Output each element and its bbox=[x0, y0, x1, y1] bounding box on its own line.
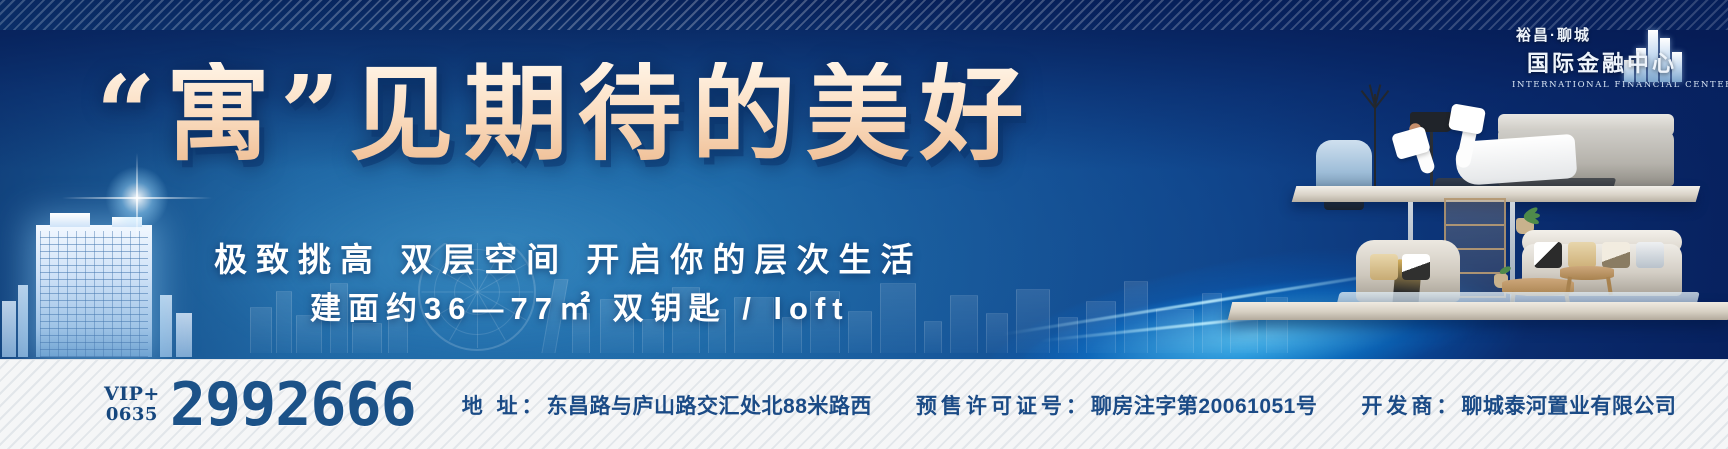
duplex-interior-illustration bbox=[1198, 78, 1728, 358]
skyline-tower-small bbox=[18, 285, 28, 357]
property-ad-banner: “寓”见期待的美好 极致挑高 双层空间 开启你的层次生活 建面约36—77㎡ 双… bbox=[0, 0, 1728, 449]
area-unit-text: ㎡ bbox=[559, 291, 597, 326]
cushion-icon bbox=[1602, 242, 1630, 268]
skyline-tower-small bbox=[2, 301, 16, 357]
cushion-icon bbox=[1636, 242, 1664, 268]
cushion-icon bbox=[1402, 254, 1430, 280]
cushion-icon bbox=[1568, 242, 1596, 268]
hotline-block[interactable]: VIP+ 0635 2992666 bbox=[104, 375, 416, 435]
subtitle-features: 极致挑高 双层空间 开启你的层次生活 bbox=[214, 233, 922, 281]
skyline-tower-small bbox=[176, 313, 192, 357]
vip-prefix-label: VIP+ 0635 bbox=[104, 384, 160, 425]
address-value: 东昌路与庐山路交汇处北88米路西 bbox=[547, 390, 872, 420]
developer-value: 聊城泰河置业有限公司 bbox=[1461, 390, 1676, 420]
cushion-icon bbox=[1370, 254, 1398, 280]
page-title: “寓”见期待的美好 bbox=[96, 62, 1034, 166]
hotline-number[interactable]: 2992666 bbox=[170, 375, 416, 435]
footer-details: 地 址： 东昌路与庐山路交汇处北88米路西 预售许可证号： 聊房注字第20061… bbox=[462, 390, 1677, 420]
logo-line-project: 国际金融中心 bbox=[1512, 46, 1692, 78]
developer-item: 开发商： 聊城泰河置业有限公司 bbox=[1361, 390, 1676, 420]
footer-info-bar: VIP+ 0635 2992666 地 址： 东昌路与庐山路交汇处北88米路西 … bbox=[0, 359, 1728, 449]
vip-plus-text: VIP+ bbox=[104, 384, 160, 405]
permit-label: 预售许可证号： bbox=[916, 390, 1091, 420]
logo-line-developer: 裕昌·聊城 bbox=[1512, 24, 1692, 45]
address-item: 地 址： 东昌路与庐山路交汇处北88米路西 bbox=[462, 390, 872, 420]
developer-label: 开发商： bbox=[1361, 390, 1461, 420]
loft-type-text: 双钥匙 / loft bbox=[613, 291, 850, 326]
address-label: 地 址： bbox=[462, 390, 547, 420]
hero-tower-building-icon bbox=[36, 225, 152, 357]
skyline-tower-small bbox=[160, 295, 172, 357]
area-code-text: 0635 bbox=[104, 405, 160, 425]
pillow-icon bbox=[1448, 103, 1486, 135]
subtitle-area-spec: 建面约36—77㎡ 双钥匙 / loft bbox=[310, 283, 850, 328]
permit-item: 预售许可证号： 聊房注字第20061051号 bbox=[916, 390, 1317, 420]
cushion-icon bbox=[1534, 242, 1562, 268]
diagonal-stripe-band-icon bbox=[0, 0, 1728, 30]
lower-floor-slab bbox=[1228, 302, 1728, 320]
area-range-text: 建面约36—77 bbox=[310, 291, 559, 326]
permit-value: 聊房注字第20061051号 bbox=[1091, 390, 1317, 420]
